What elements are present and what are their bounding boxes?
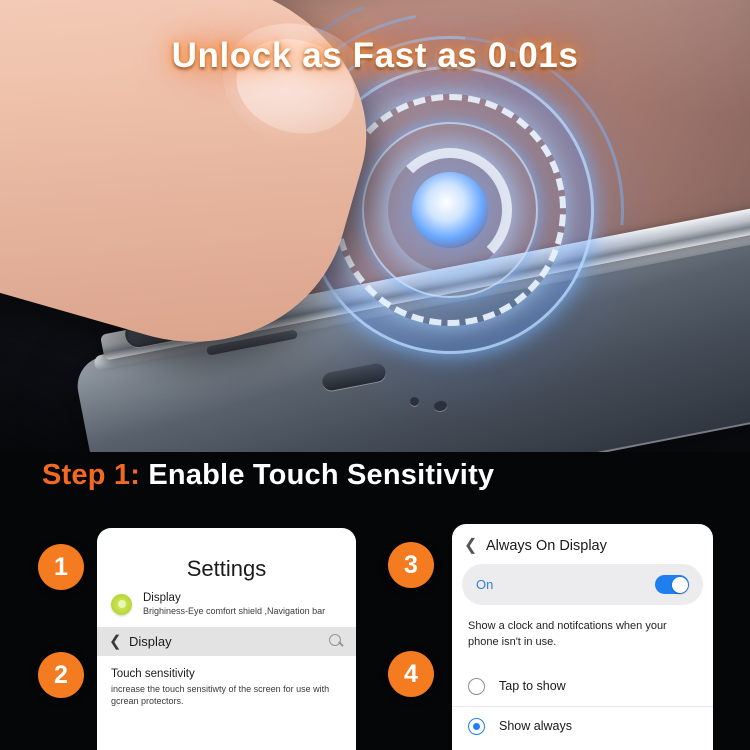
promo-page: Unlock as Fast as 0.01s Step 1: Enable T…	[0, 0, 750, 750]
aod-toggle-label: On	[476, 577, 493, 592]
display-row-subtitle: Brighiness-Eye comfort shield ,Navigatio…	[143, 606, 325, 617]
touch-sensitivity-title: Touch sensitivity	[111, 668, 342, 680]
step-badge-1: 1	[38, 544, 84, 590]
aod-title: Always On Display	[486, 538, 607, 554]
step-title-label: Enable Touch Sensitivity	[148, 459, 494, 491]
search-icon[interactable]	[329, 634, 344, 649]
step-badge-4: 4	[388, 651, 434, 697]
settings-title: Settings	[97, 556, 356, 582]
chevron-left-icon[interactable]: ❮	[109, 634, 123, 649]
settings-screenshot-panel: Settings Display Brighiness-Eye comfort …	[97, 528, 356, 750]
hero-headline: Unlock as Fast as 0.01s	[0, 36, 750, 76]
display-brightness-icon	[111, 594, 132, 615]
display-header-title: Display	[129, 634, 329, 649]
aod-option-label: Tap to show	[499, 679, 566, 693]
step-heading: Step 1: Enable Touch Sensitivity	[42, 459, 494, 492]
step-badge-3: 3	[388, 542, 434, 588]
touch-sensitivity-description: increase the touch sensitiwty of the scr…	[111, 683, 342, 707]
aod-option-label: Show always	[499, 719, 572, 733]
step-number-label: Step 1:	[42, 459, 140, 491]
radio-selected-icon[interactable]	[468, 718, 485, 735]
aod-option-tap-to-show[interactable]: Tap to show	[452, 667, 713, 706]
aod-toggle-switch[interactable]	[655, 575, 689, 594]
touch-sensitivity-block[interactable]: Touch sensitivity increase the touch sen…	[97, 656, 356, 707]
step-badge-2: 2	[38, 652, 84, 698]
hero-section: Unlock as Fast as 0.01s	[0, 0, 750, 452]
aod-option-show-always[interactable]: Show always	[452, 706, 713, 746]
display-header-bar: ❮ Display	[97, 627, 356, 656]
settings-row-display[interactable]: Display Brighiness-Eye comfort shield ,N…	[97, 582, 356, 624]
aod-toggle-row[interactable]: On	[462, 564, 703, 605]
radio-unselected-icon[interactable]	[468, 678, 485, 695]
display-row-title: Display	[143, 592, 325, 606]
aod-description: Show a clock and notifcations when your …	[452, 605, 713, 651]
aod-header: ❮ Always On Display	[452, 524, 713, 564]
always-on-display-screenshot-panel: ❮ Always On Display On Show a clock and …	[452, 524, 713, 750]
chevron-left-icon[interactable]: ❮	[464, 538, 480, 554]
